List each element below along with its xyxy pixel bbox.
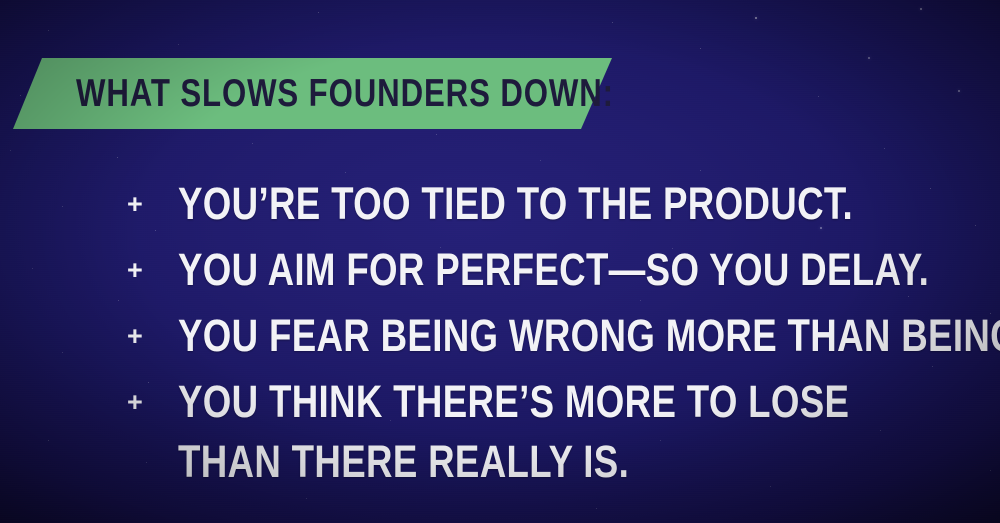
slide-canvas: WHAT SLOWS FOUNDERS DOWN: + YOU’RE TOO T…: [0, 0, 1000, 523]
star-dot: [958, 90, 960, 92]
list-item-text: YOU’RE TOO TIED TO THE PRODUCT.: [178, 181, 853, 227]
star-dot: [252, 143, 253, 144]
star-dot: [540, 160, 541, 161]
star-dot: [700, 170, 701, 171]
star-dot: [10, 150, 11, 151]
list-item-line: YOU AIM FOR PERFECT—SO YOU DELAY.: [178, 244, 929, 295]
list-item-text: YOU AIM FOR PERFECT—SO YOU DELAY.: [178, 247, 929, 293]
star-dot: [318, 12, 319, 13]
banner-title: WHAT SLOWS FOUNDERS DOWN:: [76, 58, 614, 129]
star-dot: [990, 470, 991, 471]
star-dot: [178, 44, 179, 45]
star-dot: [884, 148, 885, 149]
star-dot: [818, 96, 819, 97]
star-dot: [596, 508, 597, 509]
star-dot: [345, 172, 346, 173]
list-item: + YOU FEAR BEING WRONG MORE THAN BEING S…: [126, 313, 986, 359]
plus-icon: +: [126, 379, 178, 425]
list-item: + YOU’RE TOO TIED TO THE PRODUCT.: [126, 181, 986, 227]
star-dot: [48, 440, 49, 441]
list-item-text: YOU FEAR BEING WRONG MORE THAN BEING SLO…: [178, 313, 1000, 359]
star-dot: [868, 57, 870, 59]
list-item-line: YOU FEAR BEING WRONG MORE THAN BEING SLO…: [178, 310, 1000, 361]
list-item-text: YOU THINK THERE’S MORE TO LOSE THAN THER…: [178, 379, 849, 485]
list-item: + YOU THINK THERE’S MORE TO LOSE THAN TH…: [126, 379, 986, 485]
plus-icon: +: [126, 181, 178, 227]
star-dot: [48, 30, 49, 31]
list-item: + YOU AIM FOR PERFECT—SO YOU DELAY.: [126, 247, 986, 293]
star-dot: [306, 498, 307, 499]
star-dot: [118, 300, 119, 301]
star-dot: [62, 352, 63, 353]
bullet-list: + YOU’RE TOO TIED TO THE PRODUCT. + YOU …: [126, 181, 986, 485]
star-dot: [755, 17, 757, 19]
list-item-line-wrapped: THAN THERE REALLY IS.: [178, 439, 849, 485]
star-dot: [700, 48, 701, 49]
star-dot: [612, 22, 613, 23]
plus-icon: +: [126, 313, 178, 359]
star-dot: [770, 486, 771, 487]
star-dot: [436, 134, 437, 135]
list-item-line: YOU’RE TOO TIED TO THE PRODUCT.: [178, 178, 853, 229]
star-dot: [62, 206, 63, 207]
star-dot: [920, 8, 922, 10]
star-dot: [32, 268, 33, 269]
plus-icon: +: [126, 247, 178, 293]
star-dot: [117, 157, 118, 158]
list-item-line: YOU THINK THERE’S MORE TO LOSE: [178, 376, 849, 427]
header-banner: WHAT SLOWS FOUNDERS DOWN:: [0, 58, 640, 129]
